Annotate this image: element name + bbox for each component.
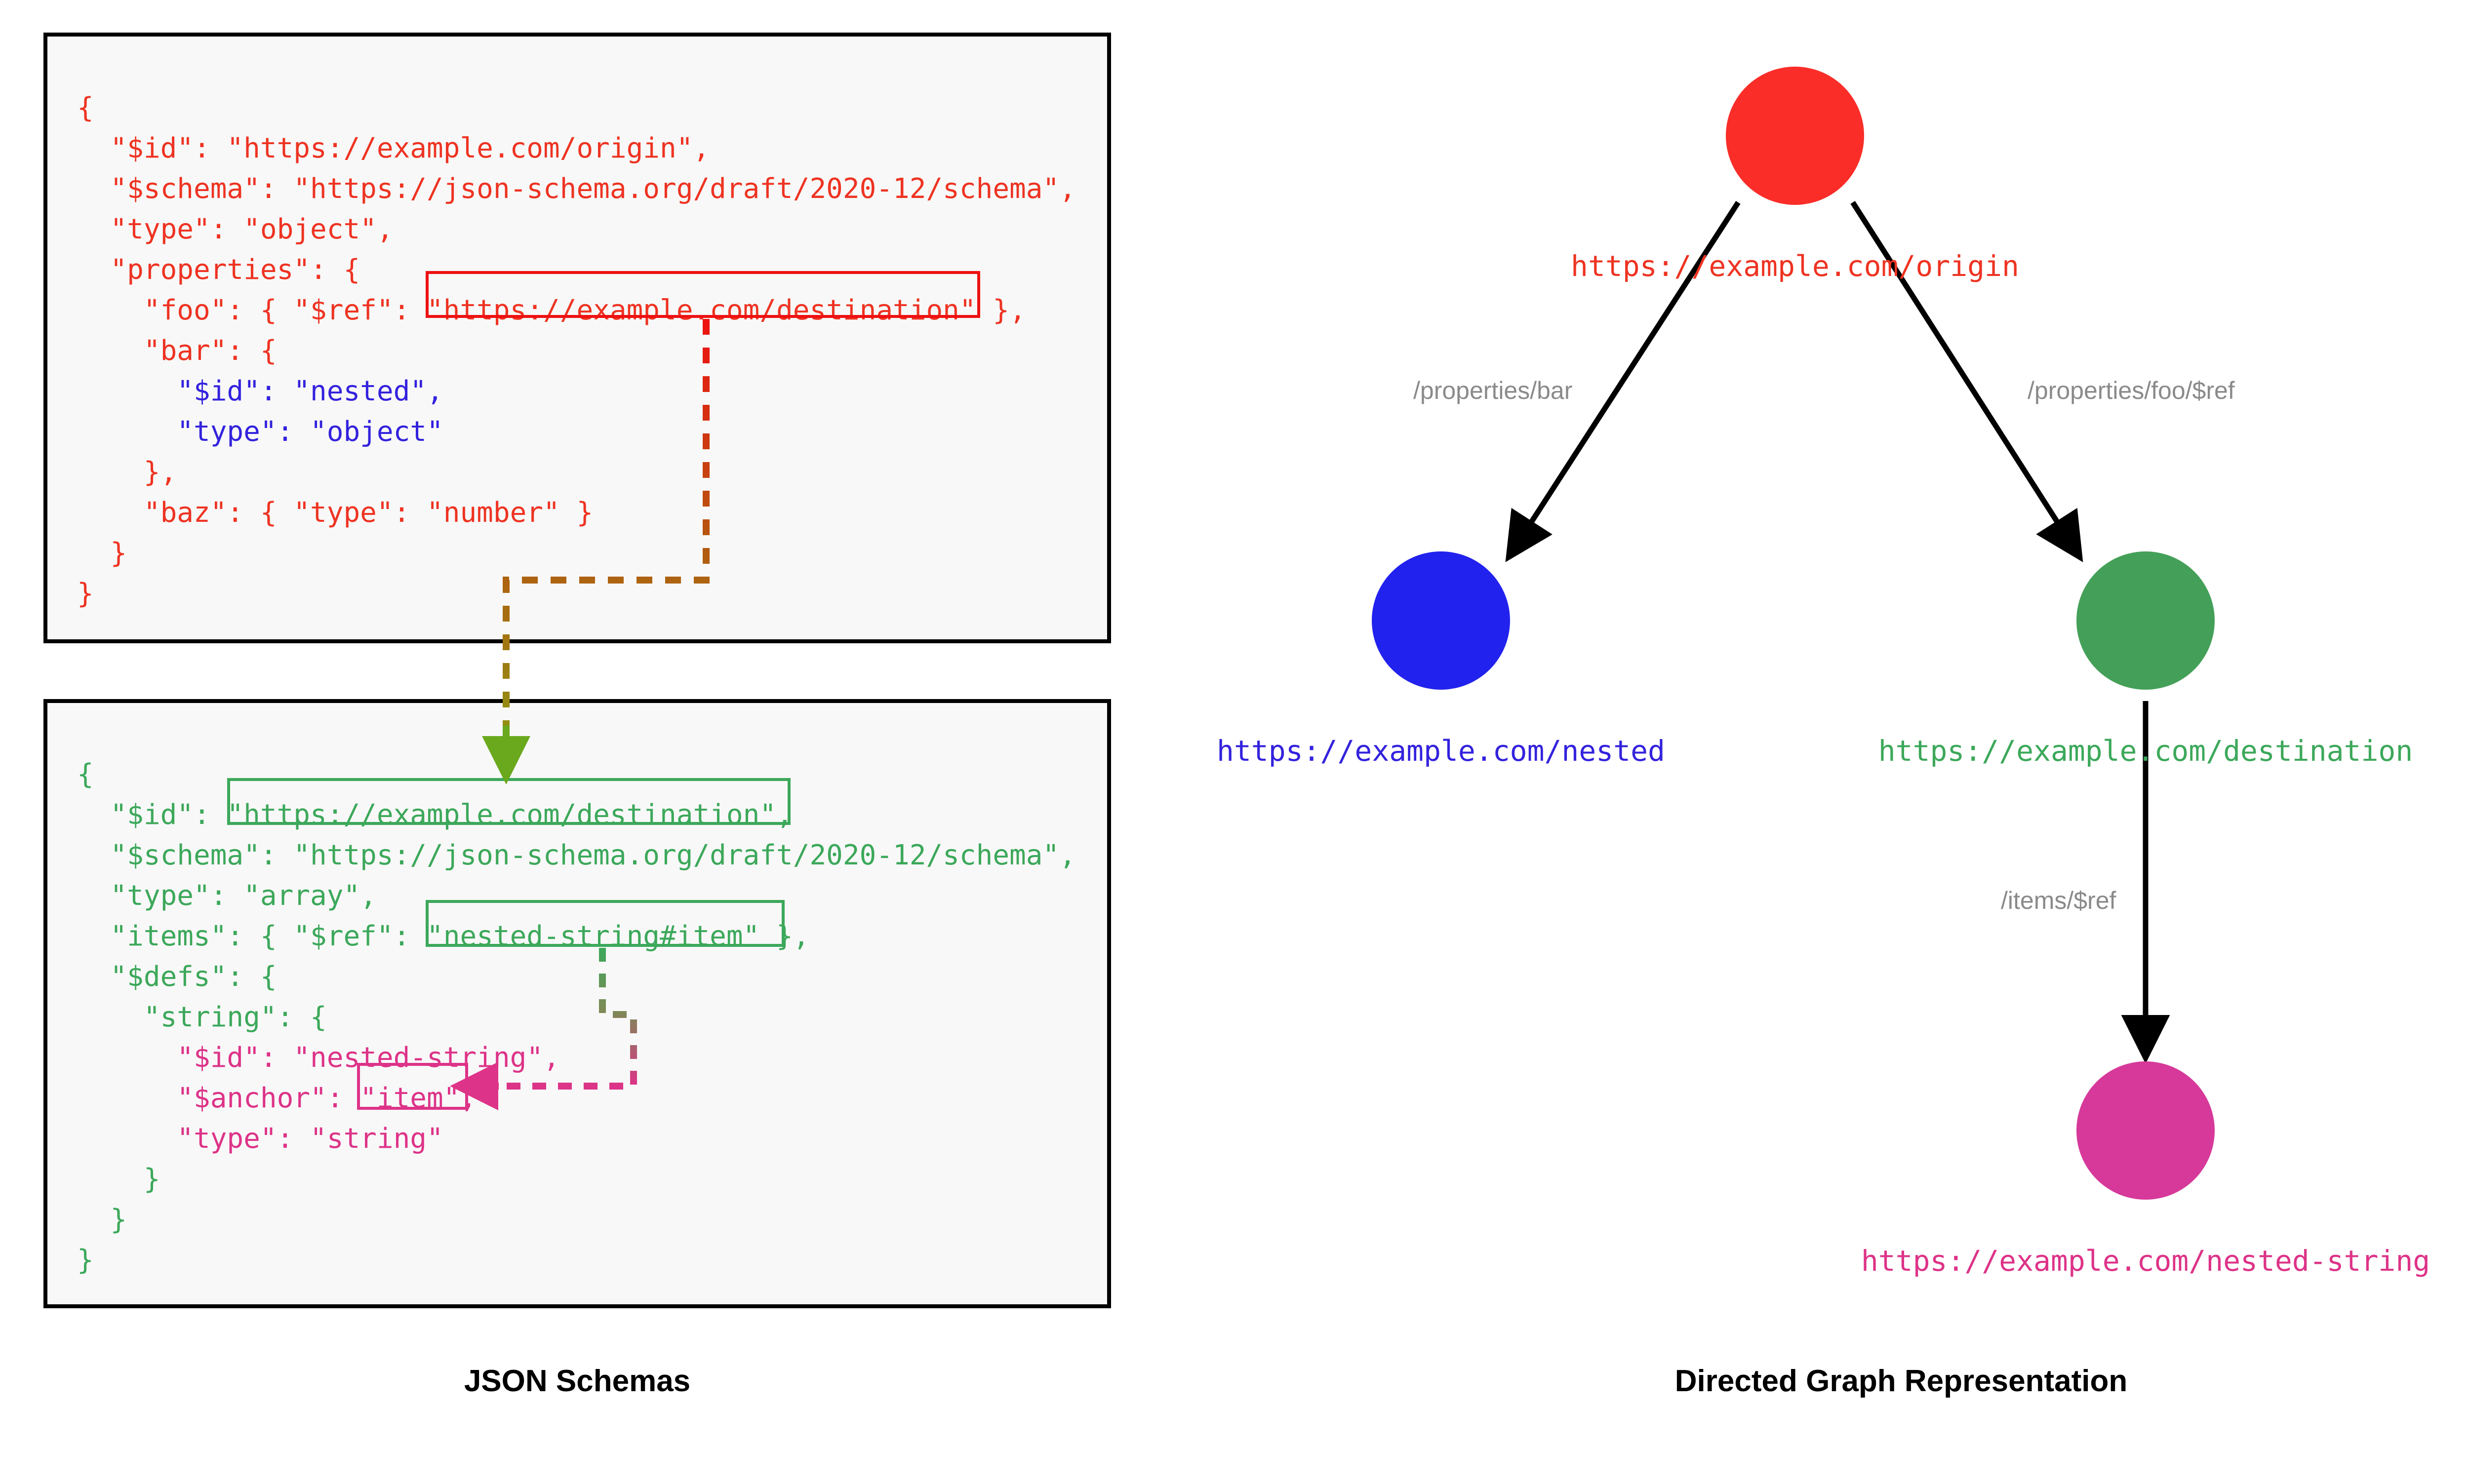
code-line: "string": { (77, 997, 1076, 1038)
code-line: } (77, 1159, 1076, 1200)
code-line: "$schema": "https://json-schema.org/draf… (77, 169, 1076, 209)
figure-canvas: { "$id": "https://example.com/origin", "… (0, 0, 2469, 1484)
code-line: } (77, 574, 1076, 614)
schema-panel-origin: { "$id": "https://example.com/origin", "… (43, 33, 1111, 643)
code-line: "$anchor": "item", (77, 1078, 1076, 1119)
code-line: "$id": "https://example.com/origin", (77, 128, 1076, 169)
schema-destination-code: { "$id": "https://example.com/destinatio… (77, 754, 1076, 1281)
code-line: "$defs": { (77, 957, 1076, 997)
graph-node-nested[interactable] (1372, 551, 1510, 690)
highlight-destination-anchor (357, 1063, 468, 1110)
highlight-origin-ref (426, 271, 980, 318)
graph-node-label-origin: https://example.com/origin (1400, 249, 2190, 283)
highlight-destination-ref (426, 900, 785, 947)
graph-node-origin[interactable] (1726, 67, 1864, 205)
graph-node-label-nested: https://example.com/nested (1046, 734, 1836, 768)
code-line: "baz": { "type": "number" } (77, 493, 1076, 533)
highlight-destination-id (227, 778, 791, 825)
graph-node-destination[interactable] (2076, 551, 2215, 690)
graph-edge-label: /properties/bar (1413, 376, 1572, 405)
code-line: "$schema": "https://json-schema.org/draf… (77, 835, 1076, 876)
caption-directed-graph: Directed Graph Representation (1333, 1364, 2469, 1399)
graph-edge-label: /properties/foo/$ref (2028, 376, 2235, 405)
code-line: } (77, 1240, 1076, 1281)
code-line: { (77, 88, 1076, 128)
caption-json-schemas: JSON Schemas (43, 1364, 1111, 1399)
code-line: }, (77, 452, 1076, 493)
graph-node-nested-string[interactable] (2076, 1061, 2215, 1200)
code-line: "type": "string" (77, 1119, 1076, 1159)
code-line: "type": "object" (77, 412, 1076, 452)
code-line: } (77, 533, 1076, 574)
code-line: } (77, 1200, 1076, 1240)
code-line: "type": "object", (77, 209, 1076, 250)
code-line: "$id": "nested", (77, 371, 1076, 412)
code-line: "$id": "nested-string", (77, 1038, 1076, 1078)
graph-node-label-nested-string: https://example.com/nested-string (1751, 1244, 2469, 1278)
code-line: "bar": { (77, 331, 1076, 371)
schema-origin-code: { "$id": "https://example.com/origin", "… (77, 88, 1076, 614)
graph-edge-label: /items/$ref (2001, 886, 2116, 915)
graph-node-label-destination: https://example.com/destination (1751, 734, 2469, 768)
